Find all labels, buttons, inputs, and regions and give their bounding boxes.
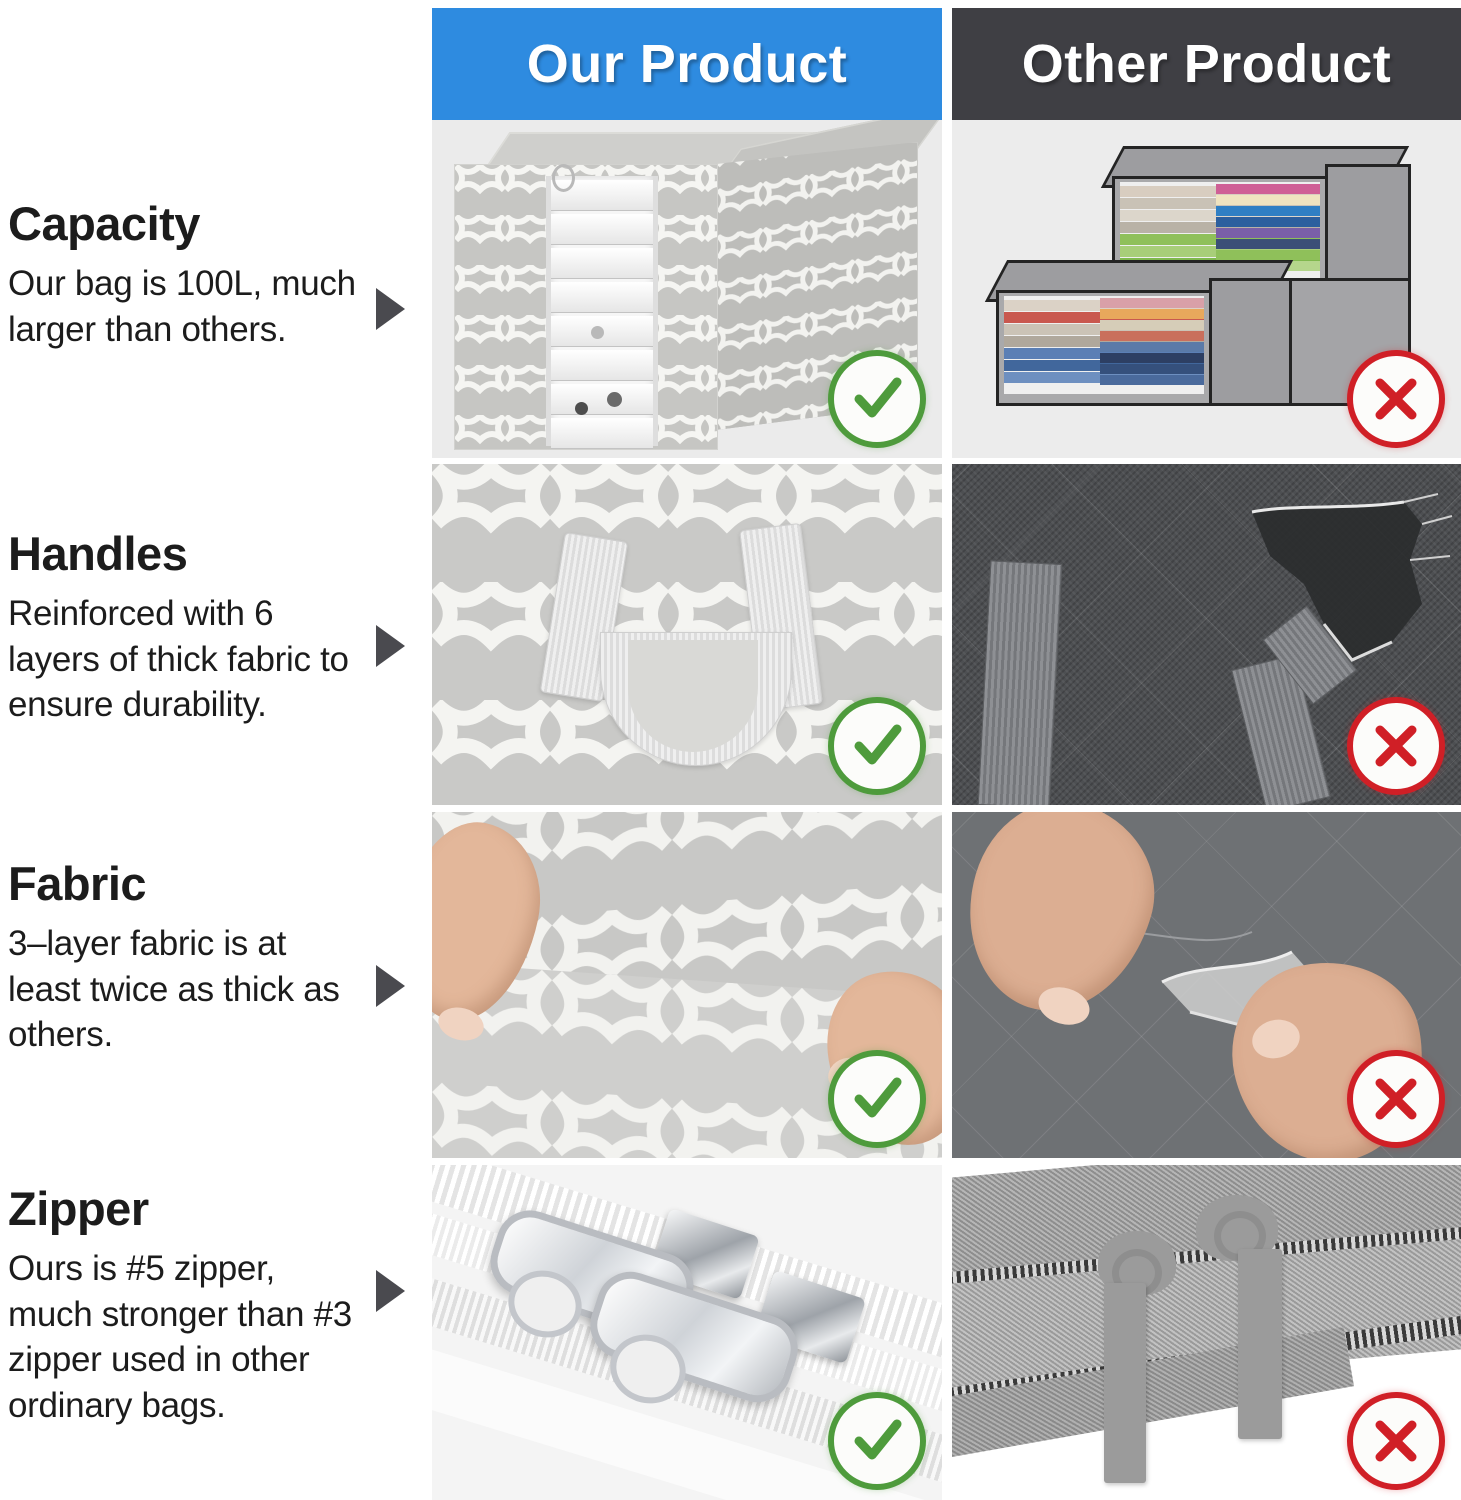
feature-description: Reinforced with 6 layers of thick fabric…	[8, 591, 366, 728]
image-our-zipper	[432, 1165, 942, 1500]
feature-fabric: Fabric 3–layer fabric is at least twice …	[8, 860, 432, 1058]
check-badge-icon	[828, 1392, 926, 1490]
pointer-triangle-icon	[376, 1270, 405, 1312]
feature-title: Fabric	[8, 860, 432, 907]
feature-description: Our bag is 100L, much larger than others…	[8, 261, 366, 352]
cross-badge-icon	[1347, 1392, 1445, 1490]
feature-description: Ours is #5 zipper, much stronger than #3…	[8, 1246, 366, 1428]
pointer-triangle-icon	[376, 288, 405, 330]
header-our-product-label: Our Product	[527, 33, 848, 95]
feature-zipper: Zipper Ours is #5 zipper, much stronger …	[8, 1185, 432, 1428]
feature-list: Capacity Our bag is 100L, much larger th…	[0, 0, 432, 1500]
feature-description: 3–layer fabric is at least twice as thic…	[8, 921, 366, 1058]
check-badge-icon	[828, 697, 926, 795]
image-other-capacity	[952, 120, 1461, 458]
feature-title: Zipper	[8, 1185, 432, 1232]
feature-title: Capacity	[8, 200, 432, 247]
feature-title: Handles	[8, 530, 432, 577]
pointer-triangle-icon	[376, 965, 405, 1007]
image-other-fabric	[952, 812, 1461, 1158]
check-badge-icon	[828, 350, 926, 448]
header-other-product-label: Other Product	[1022, 33, 1392, 95]
cross-badge-icon	[1347, 1050, 1445, 1148]
comparison-infographic: Capacity Our bag is 100L, much larger th…	[0, 0, 1461, 1500]
header-other-product: Other Product	[952, 8, 1461, 120]
image-other-handles	[952, 464, 1461, 805]
image-our-capacity	[432, 120, 942, 458]
image-our-fabric	[432, 812, 942, 1158]
cross-badge-icon	[1347, 350, 1445, 448]
feature-handles: Handles Reinforced with 6 layers of thic…	[8, 530, 432, 728]
image-our-handles	[432, 464, 942, 805]
check-badge-icon	[828, 1050, 926, 1148]
pointer-triangle-icon	[376, 625, 405, 667]
feature-capacity: Capacity Our bag is 100L, much larger th…	[8, 200, 432, 352]
header-our-product: Our Product	[432, 8, 942, 120]
cross-badge-icon	[1347, 697, 1445, 795]
image-other-zipper	[952, 1165, 1461, 1500]
